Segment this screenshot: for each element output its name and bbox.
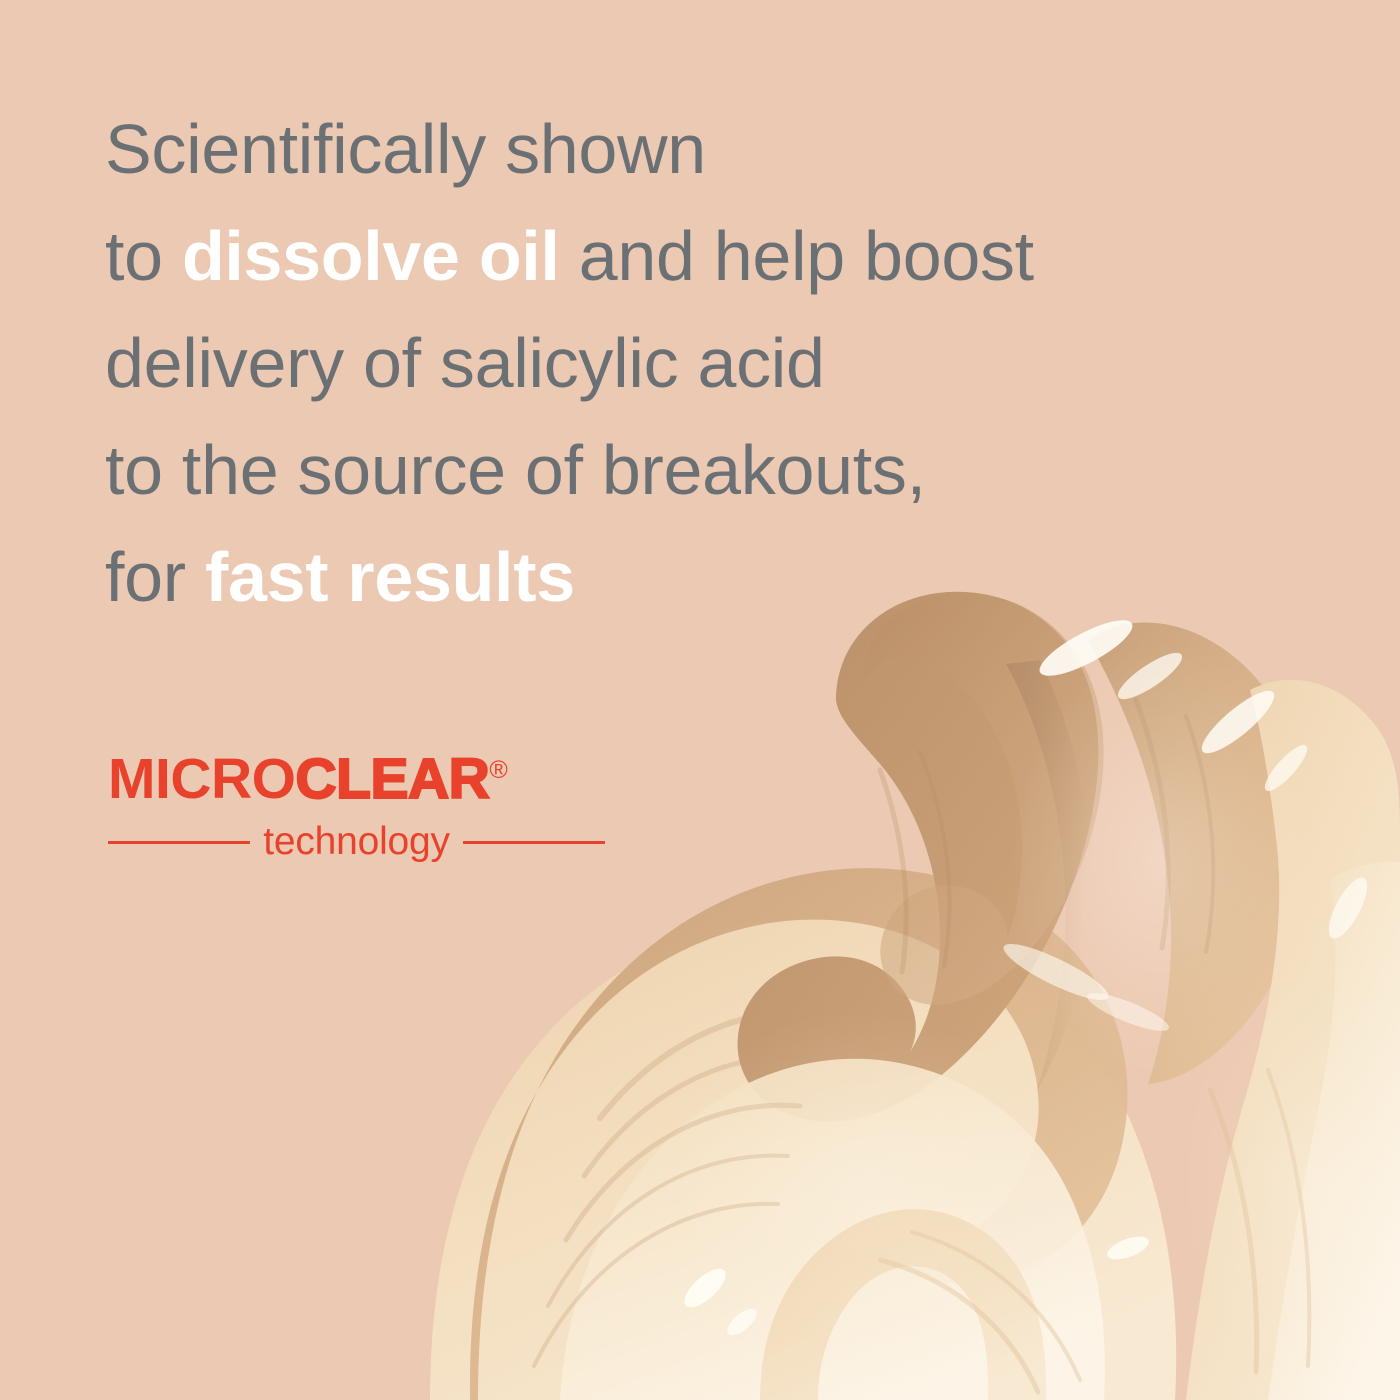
logo-tagline-row: technology: [108, 819, 605, 865]
headline-line-4: to the source of breakouts,: [105, 417, 1345, 524]
microclear-logo: MICROCLEAR® technology: [108, 748, 605, 865]
logo-tagline: technology: [263, 819, 450, 865]
headline-text: to: [105, 217, 182, 295]
wordmark-micro: MICRO: [108, 747, 295, 811]
headline-emphasis-dissolve-oil: dissolve oil: [182, 217, 560, 295]
headline-block: Scientifically shown to dissolve oil and…: [105, 96, 1345, 631]
headline-line-5: for fast results: [105, 524, 1345, 631]
headline-line-1: Scientifically shown: [105, 96, 1345, 203]
tagline-rule-right: [463, 841, 605, 844]
headline-line-3: delivery of salicylic acid: [105, 310, 1345, 417]
microclear-wordmark: MICROCLEAR®: [108, 748, 605, 810]
headline-text: Scientifically shown: [105, 110, 706, 188]
wordmark-clear: CLEAR: [295, 747, 489, 811]
headline-line-2: to dissolve oil and help boost: [105, 203, 1345, 310]
marketing-graphic: Scientifically shown to dissolve oil and…: [0, 0, 1400, 1400]
headline-text: and help boost: [560, 217, 1034, 295]
headline-text: to the source of breakouts,: [105, 431, 926, 509]
tagline-rule-left: [108, 841, 250, 844]
headline-text: delivery of salicylic acid: [105, 324, 825, 402]
registered-trademark-icon: ®: [489, 756, 507, 784]
headline-text: for: [105, 538, 205, 616]
headline-emphasis-fast-results: fast results: [205, 538, 575, 616]
